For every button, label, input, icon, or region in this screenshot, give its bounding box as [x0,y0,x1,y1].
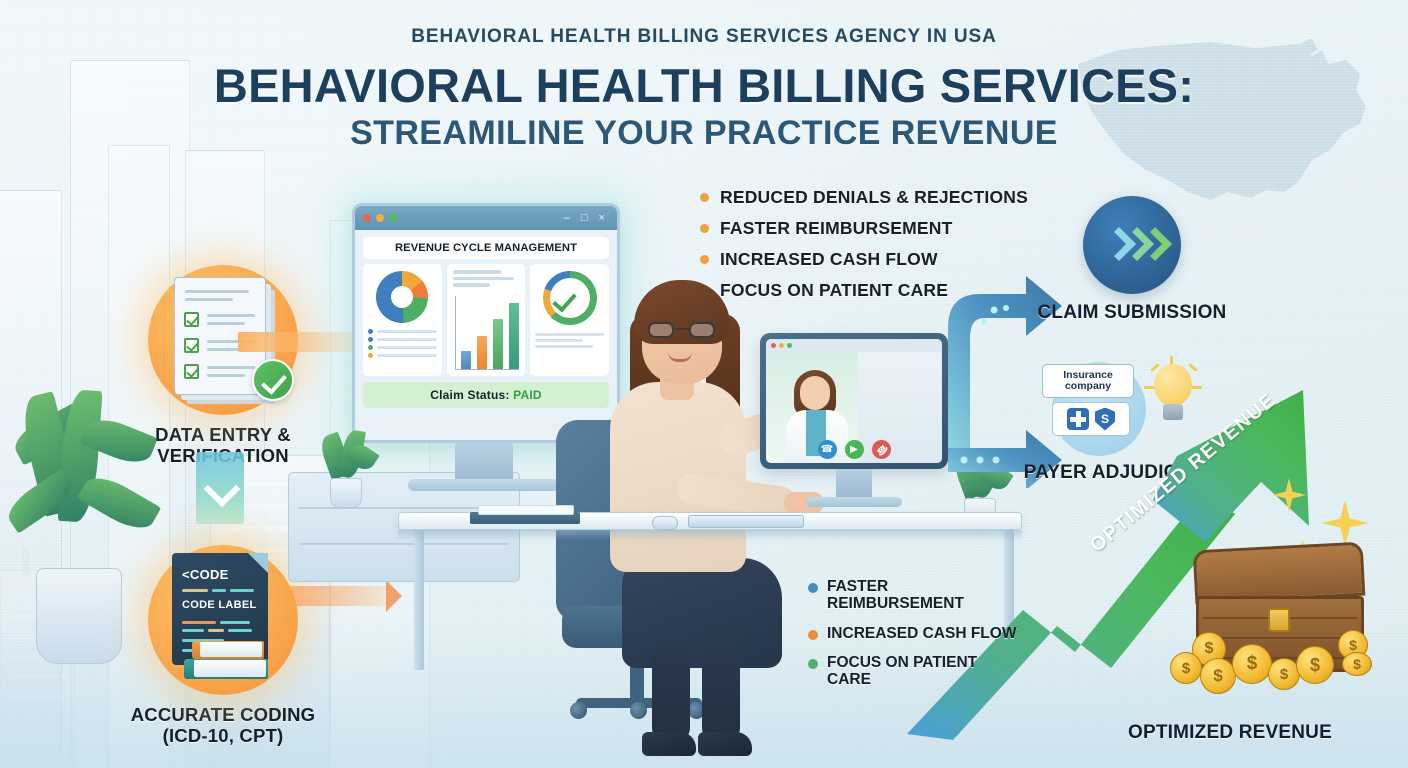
page-subtitle: Streamiline Your Practice Revenue [0,114,1408,153]
bullet-dot-icon [808,583,818,593]
paper-document [478,505,574,515]
person-shin [702,642,740,742]
telehealth-stand-foot [806,497,902,507]
benefit-item: Faster Reimbursement [808,578,1018,613]
flow-arrow-right [238,332,358,352]
benefit-item: Focus on Patient Care [808,654,1018,689]
chevron-down-icon [196,452,244,524]
bullet-dot-icon [808,659,818,669]
traffic-light-red [363,214,371,222]
bullet-dot-icon [700,193,709,202]
hangup-button[interactable]: ☎ [868,436,895,463]
donut-chart-card [363,264,442,376]
verified-check-icon [252,359,294,401]
monitor-stand-foot [408,479,560,491]
step-label: Accurate Coding (ICD-10, CPT) [108,705,338,746]
treasure-chest-icon: $ $ $ $ $ $ $ $ [1186,546,1372,698]
telehealth-stand-neck [836,469,872,499]
bar [461,351,471,369]
traffic-light-green [389,214,397,222]
computer-keyboard [688,515,804,528]
optimized-revenue-label: Optimized Revenue [1080,722,1380,744]
step-claim-submission: Claim Submission [1022,196,1242,323]
bar [493,319,503,369]
bar [509,303,519,369]
kicker-heading: Behavioral Health Billing Services Agenc… [0,26,1408,48]
infographic-poster: Behavioral Health Billing Services Agenc… [0,0,1408,768]
gold-coin: $ [1296,646,1334,684]
benefit-label: Increased Cash Flow [827,625,1016,642]
card-placeholder-lines [453,270,520,290]
video-button[interactable]: ▶ [845,440,864,459]
donut-chart [376,271,428,323]
computer-mouse [652,516,678,530]
traffic-light-red [771,343,776,348]
chest-lock [1268,608,1290,632]
benefit-label: Faster Reimbursement [827,578,1018,613]
traffic-light-yellow [779,343,784,348]
gold-coin: $ [1342,652,1372,676]
claim-status-label: Claim Status: [430,388,509,402]
step-data-entry: Data Entry & Verification [108,265,338,466]
chair-wheel [570,702,587,719]
chair-wheel [630,702,647,719]
potted-plant-small [318,428,372,508]
traffic-light-green [787,343,792,348]
desk-leg [414,530,424,670]
chest-lid [1193,542,1366,605]
doctor-head [800,376,830,410]
plant-pot [330,478,362,508]
person-shoe [698,732,752,756]
bar [477,336,487,369]
window-controls[interactable]: – □ × [564,212,609,224]
book-pages [194,660,266,677]
bullet-dot-icon [808,630,818,640]
step-icon-circle: <CODE CODE LABEL [148,545,298,695]
bullet-dot-icon [700,255,709,264]
eyeglasses-icon [648,322,718,338]
window-titlebar: – □ × [355,206,617,230]
benefit-item: Increased Cash Flow [808,625,1018,642]
claim-status-value: PAID [513,388,542,402]
monitor-stand-neck [455,443,513,481]
desk-benefits-list: Faster Reimbursement Increased Cash Flow… [808,578,1018,701]
person-torso [610,382,746,572]
bar-chart [455,296,520,370]
gold-coin: $ [1232,644,1272,684]
donut-legend [368,329,437,358]
traffic-light-yellow [376,214,384,222]
person-shoe [642,732,696,756]
bullet-dot-icon [700,224,709,233]
gold-coin: $ [1170,652,1202,684]
bar-chart-card [447,264,526,376]
benefit-label: Focus on Patient Care [827,654,1018,689]
benefit-label: Faster Reimbursement [720,218,952,239]
benefit-label: Increased Cash Flow [720,249,938,270]
dashboard-title: Revenue Cycle Management [363,237,609,259]
person-shin [652,642,690,742]
step-label: Claim Submission [1022,302,1242,323]
chevrons-circle-icon [1083,196,1181,294]
phone-button[interactable]: ☎ [818,440,837,459]
gold-coin: $ [1200,658,1236,694]
page-title: Behavioral Health Billing Services: [0,58,1408,113]
book-pages [200,642,262,657]
